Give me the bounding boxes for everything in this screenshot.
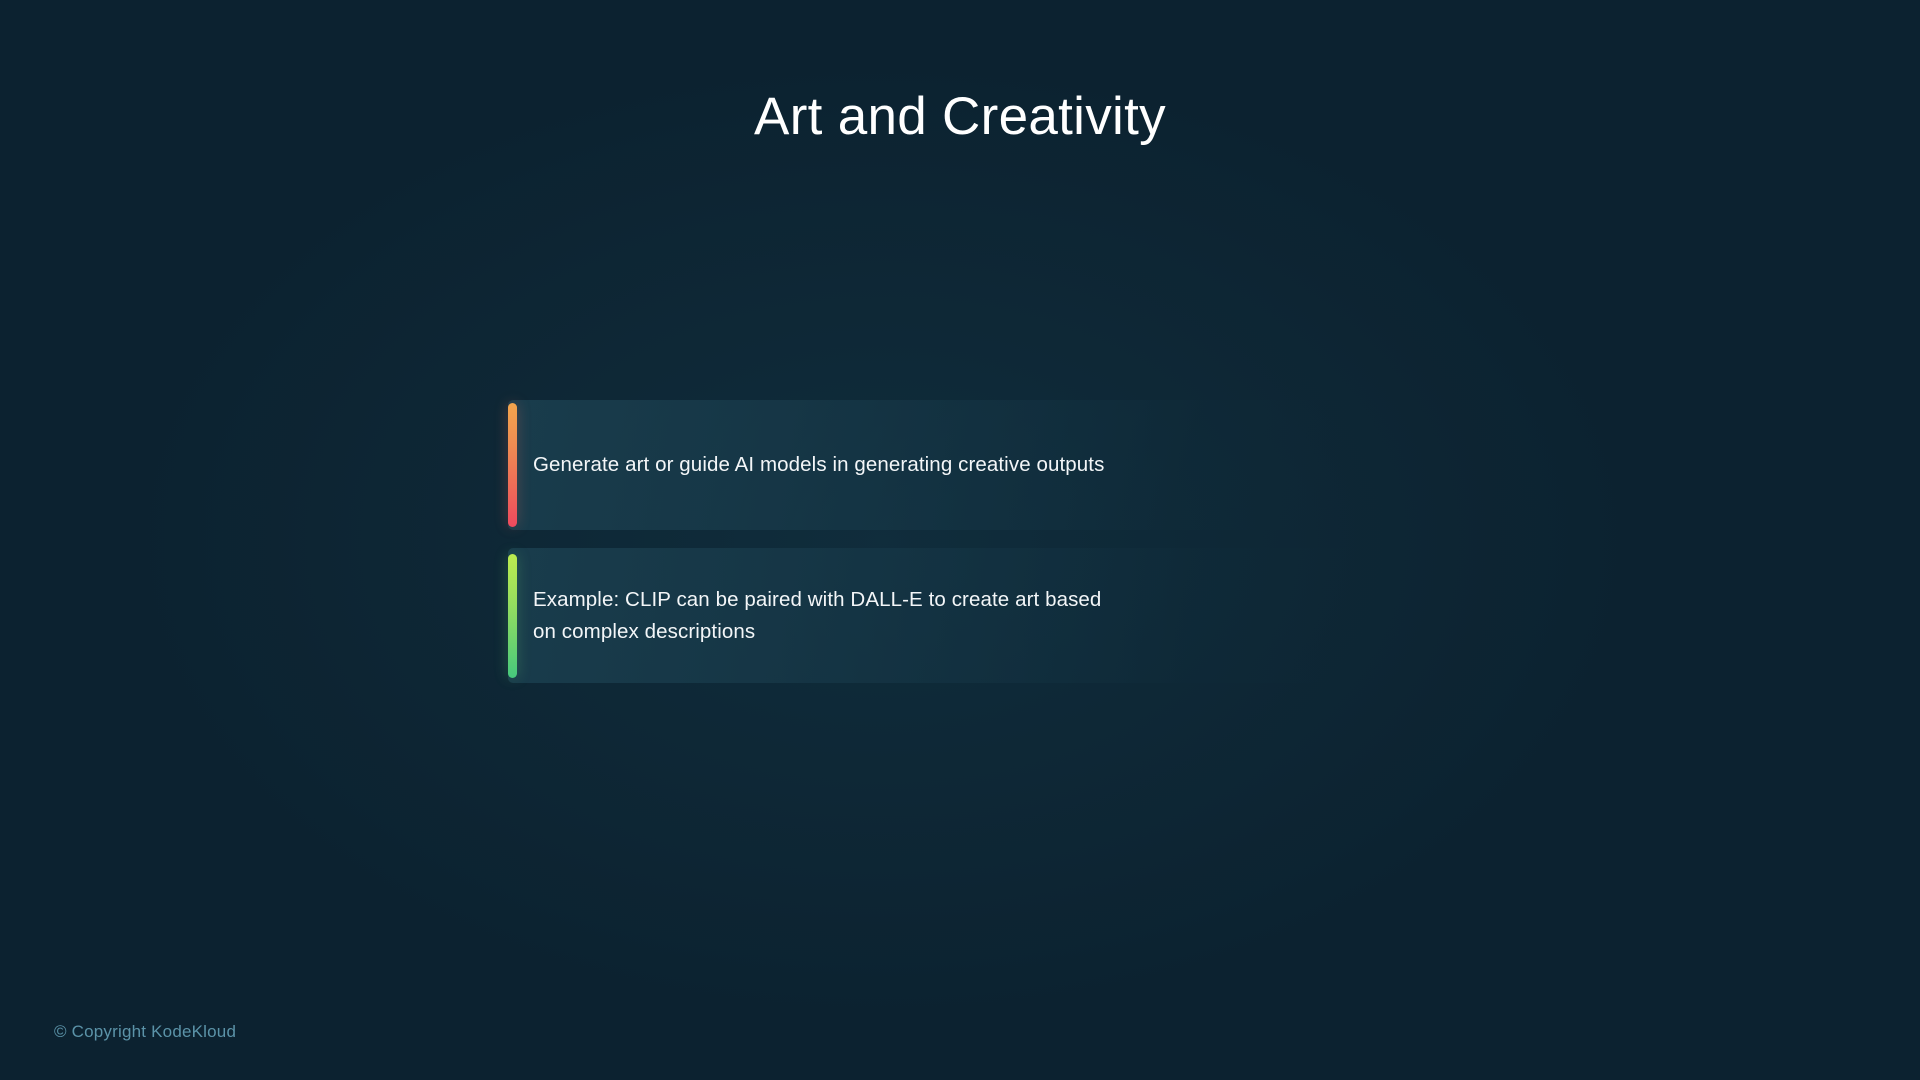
card-text: Example: CLIP can be paired with DALL-E …: [533, 584, 1153, 648]
content-card-list: Generate art or guide AI models in gener…: [508, 400, 1378, 683]
footer-copyright: © Copyright KodeKloud: [54, 1022, 236, 1042]
accent-bar-icon: [508, 554, 517, 678]
slide-root: Art and Creativity Generate art or guide…: [0, 0, 1920, 1080]
list-item: Generate art or guide AI models in gener…: [508, 400, 1378, 530]
list-item: Example: CLIP can be paired with DALL-E …: [508, 548, 1378, 683]
page-title: Art and Creativity: [0, 85, 1920, 149]
accent-bar-icon: [508, 403, 517, 527]
card-text: Generate art or guide AI models in gener…: [533, 449, 1134, 481]
